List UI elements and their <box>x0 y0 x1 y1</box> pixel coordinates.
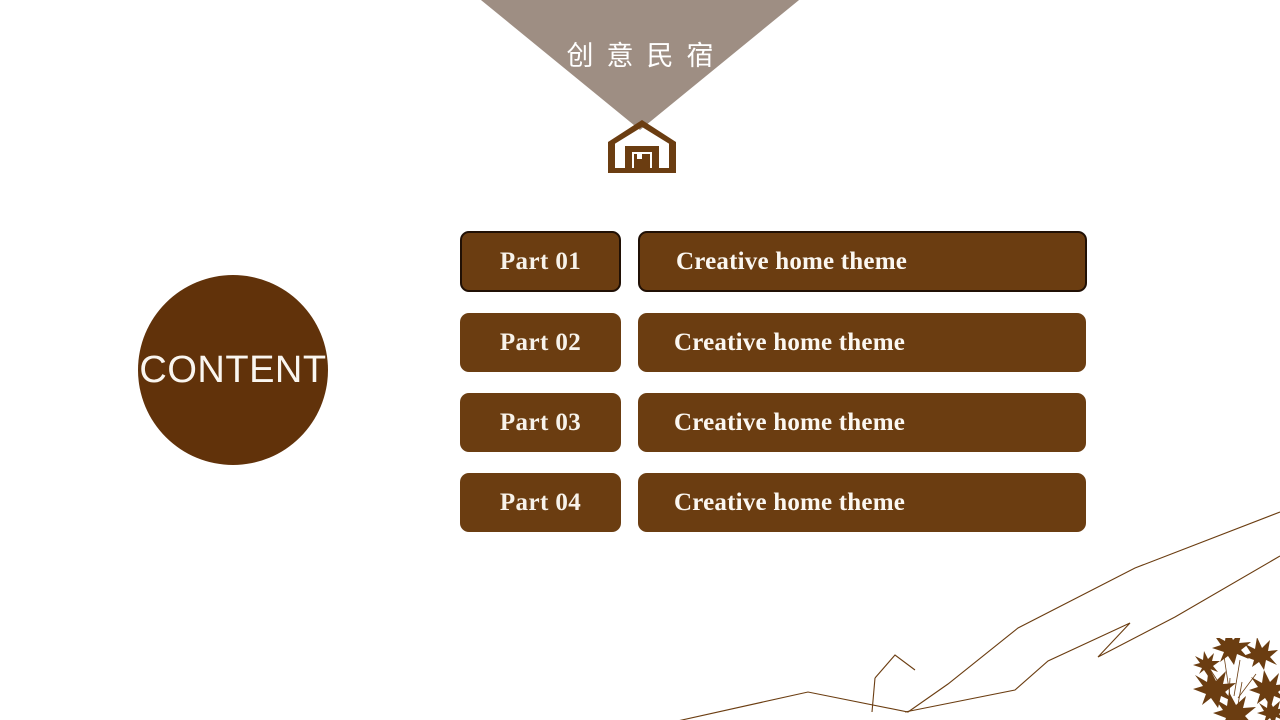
part-row[interactable]: Part 03 Creative home theme <box>460 393 1086 452</box>
part-title[interactable]: Creative home theme <box>638 231 1087 292</box>
parts-list: Part 01 Creative home theme Part 02 Crea… <box>460 231 1086 532</box>
part-badge-label: Part 02 <box>500 329 581 357</box>
part-title[interactable]: Creative home theme <box>638 473 1086 532</box>
part-title-label: Creative home theme <box>676 248 907 276</box>
part-title-label: Creative home theme <box>674 409 905 437</box>
part-title[interactable]: Creative home theme <box>638 393 1086 452</box>
house-icon <box>606 118 678 174</box>
part-badge[interactable]: Part 02 <box>460 313 621 372</box>
content-circle-label: CONTENT <box>139 349 326 392</box>
part-row[interactable]: Part 02 Creative home theme <box>460 313 1086 372</box>
part-badge[interactable]: Part 01 <box>460 231 621 292</box>
part-row[interactable]: Part 01 Creative home theme <box>460 231 1086 292</box>
part-badge[interactable]: Part 03 <box>460 393 621 452</box>
slide-canvas: 创意民宿 CONTENT Part 01 Creative home theme <box>0 0 1280 720</box>
part-badge[interactable]: Part 04 <box>460 473 621 532</box>
part-title-label: Creative home theme <box>674 329 905 357</box>
part-badge-label: Part 01 <box>500 248 581 276</box>
part-badge-label: Part 04 <box>500 489 581 517</box>
part-row[interactable]: Part 04 Creative home theme <box>460 473 1086 532</box>
part-title[interactable]: Creative home theme <box>638 313 1086 372</box>
part-title-label: Creative home theme <box>674 489 905 517</box>
part-badge-label: Part 03 <box>500 409 581 437</box>
page-title: 创意民宿 <box>432 40 848 74</box>
content-circle: CONTENT <box>138 275 328 465</box>
maple-leaf-cluster-icon <box>1178 638 1280 720</box>
